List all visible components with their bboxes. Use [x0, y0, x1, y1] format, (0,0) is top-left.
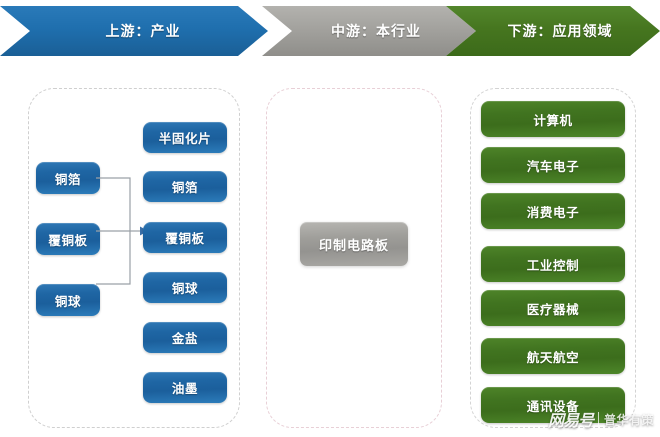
upstream-source-box[interactable]: 覆铜板 [36, 223, 100, 255]
downstream-application-label: 航天航空 [527, 347, 579, 366]
downstream-application-box[interactable]: 消费电子 [481, 193, 625, 229]
upstream-product-box[interactable]: 半固化片 [143, 122, 227, 153]
midstream-main-box[interactable]: 印制电路板 [300, 222, 408, 266]
watermark-source: 普华有策 [604, 411, 654, 428]
upstream-product-box[interactable]: 铜球 [143, 272, 227, 303]
chain-stage-header: 上游：产业 中游：本行业 下游：应用领域 [0, 6, 660, 56]
midstream-main-label: 印制电路板 [319, 235, 389, 254]
upstream-product-label: 铜球 [172, 278, 198, 297]
watermark-brand: 网易号 [548, 407, 593, 431]
upstream-source-label: 铜箔 [55, 169, 81, 188]
upstream-product-box[interactable]: 金盐 [143, 322, 227, 353]
downstream-application-label: 消费电子 [527, 202, 579, 221]
downstream-application-box[interactable]: 工业控制 [481, 246, 625, 282]
upstream-product-label: 半固化片 [159, 128, 211, 147]
stage-arrow-downstream-label: 下游：应用领域 [508, 21, 613, 41]
downstream-application-label: 汽车电子 [527, 156, 579, 175]
watermark: 网易号 普华有策 [548, 407, 654, 431]
industry-chain-diagram: 上游：产业 中游：本行业 下游：应用领域 铜箔 覆铜板 铜球 半固化片 铜箔 [0, 0, 660, 437]
stage-arrow-downstream[interactable]: 下游：应用领域 [446, 6, 660, 56]
upstream-source-box[interactable]: 铜箔 [36, 162, 100, 194]
upstream-product-label: 覆铜板 [165, 228, 204, 247]
upstream-product-label: 油墨 [172, 378, 198, 397]
stage-arrow-midstream-label: 中游：本行业 [331, 21, 421, 41]
upstream-product-label: 铜箔 [172, 177, 198, 196]
upstream-product-box[interactable]: 铜箔 [143, 171, 227, 202]
downstream-application-box[interactable]: 航天航空 [481, 338, 625, 374]
upstream-product-label: 金盐 [172, 328, 198, 347]
downstream-application-label: 医疗器械 [527, 299, 579, 318]
downstream-application-label: 工业控制 [527, 255, 579, 274]
upstream-source-box[interactable]: 铜球 [36, 284, 100, 316]
upstream-product-box[interactable]: 油墨 [143, 372, 227, 403]
stage-arrow-midstream[interactable]: 中游：本行业 [262, 6, 476, 56]
downstream-application-box[interactable]: 计算机 [481, 101, 625, 137]
upstream-source-label: 铜球 [55, 291, 81, 310]
downstream-application-box[interactable]: 汽车电子 [481, 147, 625, 183]
downstream-application-box[interactable]: 医疗器械 [481, 290, 625, 326]
stage-arrow-upstream-label: 上游：产业 [106, 21, 181, 41]
upstream-source-label: 覆铜板 [48, 230, 87, 249]
watermark-divider [598, 412, 599, 427]
downstream-application-label: 计算机 [533, 110, 572, 129]
upstream-product-box[interactable]: 覆铜板 [143, 222, 227, 253]
stage-arrow-upstream[interactable]: 上游：产业 [0, 6, 268, 56]
